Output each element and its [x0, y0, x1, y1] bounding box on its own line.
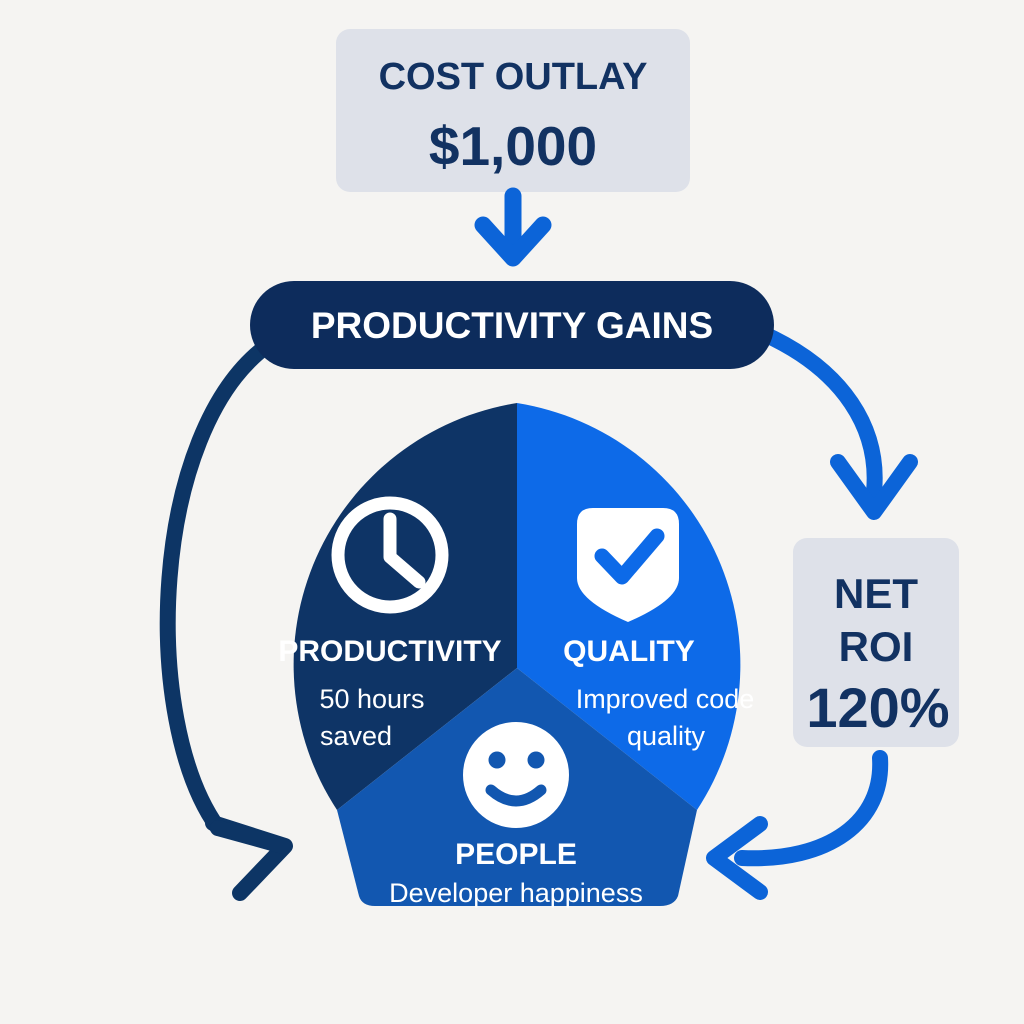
- productivity-gains-label: PRODUCTIVITY GAINS: [311, 305, 713, 346]
- productivity-gains-banner[interactable]: PRODUCTIVITY GAINS: [250, 281, 774, 369]
- net-roi-title-line2: ROI: [839, 623, 914, 670]
- net-roi-card[interactable]: NET ROI 120%: [793, 538, 959, 747]
- net-roi-value: 120%: [806, 676, 949, 739]
- node-layer: COST OUTLAY $1,000 PRODUCTIVITY GAINS NE…: [0, 0, 1024, 1024]
- net-roi-title-line1: NET: [834, 570, 918, 617]
- cost-outlay-card[interactable]: COST OUTLAY $1,000: [336, 29, 690, 192]
- cost-outlay-value: $1,000: [429, 115, 597, 177]
- arrow-down-cost-to-gains: [483, 196, 543, 258]
- infographic-canvas: PRODUCTIVITY 50 hours saved QUALITY Impr…: [0, 0, 1024, 1024]
- cost-outlay-title: COST OUTLAY: [379, 56, 648, 98]
